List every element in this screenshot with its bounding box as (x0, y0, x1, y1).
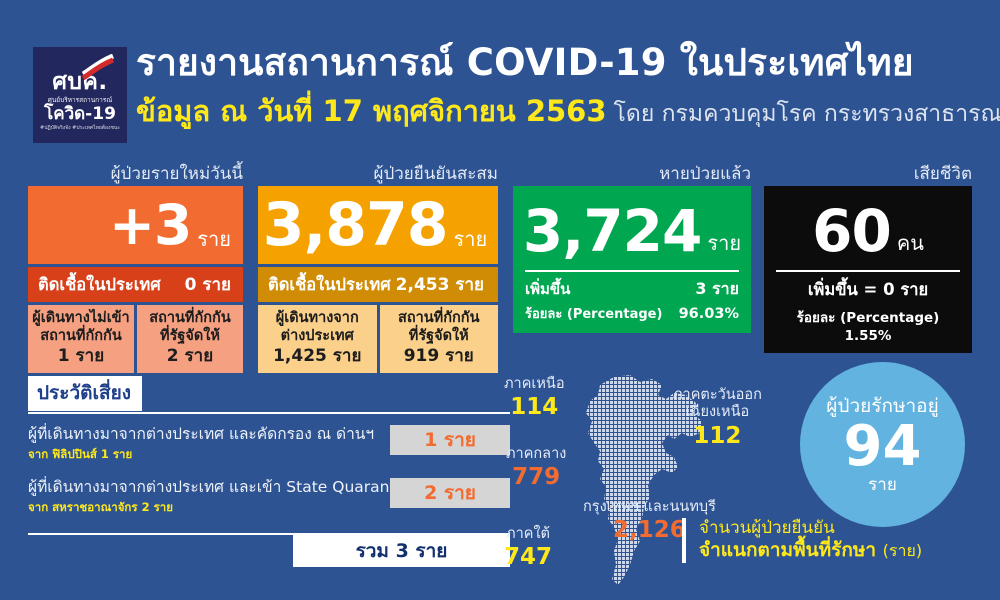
region-north-name: ภาคเหนือ (504, 376, 565, 393)
deaths-value: 60 (812, 204, 891, 259)
region-northeast-name-line2: เฉียงเหนือ (673, 404, 762, 421)
deaths-value-box: 60 คน (776, 196, 960, 268)
region-northeast-value: 112 (673, 423, 762, 449)
label-deaths: เสียชีวิต (764, 160, 972, 187)
recovered-unit: ราย (707, 227, 741, 259)
recovered-value: 3,724 (523, 204, 701, 259)
total-cases-local-band: ติดเชื้อในประเทศ 2,453 ราย (258, 267, 498, 302)
report-date: ข้อมูล ณ วันที่ 17 พฤศจิกายน 2563 (136, 94, 607, 128)
risk-total-row: รวม 3 ราย (28, 535, 510, 569)
label-total-cases: ผู้ป่วยยืนยันสะสม (258, 160, 498, 187)
risk-row-0-value: 1 ราย (390, 425, 510, 455)
recovered-percent-label: ร้อยละ (Percentage) (525, 303, 662, 324)
deaths-unit: คน (897, 227, 924, 259)
total-cases-value-box: 3,878 ราย (258, 186, 498, 264)
total-cases-value: 3,878 (263, 197, 448, 254)
total-cases-local-label: ติดเชื้อในประเทศ (268, 272, 391, 298)
total-cases-unit: ราย (454, 223, 488, 255)
risk-row-1-value: 2 ราย (390, 478, 510, 508)
deaths-inner: 60 คน เพิ่มขึ้น = 0 ราย ร้อยละ (Percenta… (764, 186, 972, 353)
new-cases-breakdown: ผู้เดินทางไม่เข้า สถานที่กักกัน 1 ราย สถ… (28, 305, 243, 373)
total-sub-1-line1: สถานที่กักกัน (382, 310, 497, 328)
sub-1-line2: ที่รัฐจัดให้ (139, 328, 241, 346)
total-sub-1-value: 919 ราย (382, 345, 497, 367)
sub-1-line1: สถานที่กักกัน (139, 310, 241, 328)
active-patients-circle: ผู้ป่วยรักษาอยู่ 94 ราย (800, 362, 965, 527)
card-deaths: 60 คน เพิ่มขึ้น = 0 ราย ร้อยละ (Percenta… (764, 186, 972, 353)
sbc-logo: ศบค. ศูนย์บริหารสถานการณ์ โควิด-19 #ปฏิบ… (33, 47, 127, 143)
total-cases-local-value: 2,453 ราย (396, 271, 484, 298)
risk-history-section: ประวัติเสี่ยง ผู้ที่เดินทางมาจากต่างประเ… (28, 376, 510, 569)
card-total-cases: 3,878 ราย ติดเชื้อในประเทศ 2,453 ราย ผู้… (258, 186, 498, 373)
recovered-inner: 3,724 ราย เพิ่มขึ้น 3 ราย ร้อยละ (Percen… (513, 186, 751, 333)
new-cases-sub-1: สถานที่กักกัน ที่รัฐจัดให้ 2 ราย (137, 305, 243, 373)
header-subtitle: ข้อมูล ณ วันที่ 17 พฤศจิกายน 2563โดย กรม… (136, 96, 1000, 128)
total-cases-sub-1: สถานที่กักกัน ที่รัฐจัดให้ 919 ราย (380, 305, 499, 373)
deaths-increase-line: เพิ่มขึ้น = 0 ราย (776, 277, 960, 303)
risk-top-rule (28, 412, 510, 414)
sub-0-line1: ผู้เดินทางไม่เข้า (30, 310, 132, 328)
recovered-increase-value: 3 ราย (695, 277, 739, 302)
risk-row-0: ผู้ที่เดินทางมาจากต่างประเทศ และคัดกรอง … (28, 425, 510, 467)
recovered-value-box: 3,724 ราย (525, 196, 739, 268)
label-recovered: หายป่วยแล้ว (513, 160, 751, 187)
sub-1-value: 2 ราย (139, 345, 241, 367)
map-caption-line2-text: จำแนกตามพื้นที่รักษา (699, 539, 876, 561)
new-cases-unit: ราย (197, 223, 231, 255)
total-sub-0-line1: ผู้เดินทางจาก (260, 310, 375, 328)
map-caption-line2: จำแนกตามพื้นที่รักษา (ราย) (699, 539, 922, 563)
logo-line3: โควิด-19 (44, 105, 116, 124)
risk-total-value: รวม 3 ราย (293, 535, 510, 567)
region-north: ภาคเหนือ 114 (504, 376, 565, 421)
thai-flag-icon (82, 54, 116, 80)
recovered-divider (525, 270, 739, 272)
sub-0-line2: สถานที่กักกัน (30, 328, 132, 346)
label-new-cases: ผู้ป่วยรายใหม่วันนี้ (28, 160, 243, 187)
recovered-percent-row: ร้อยละ (Percentage) 96.03% (525, 303, 739, 324)
active-patients-unit: ราย (868, 476, 897, 495)
card-new-cases: +3 ราย ติดเชื้อในประเทศ 0 ราย ผู้เดินทาง… (28, 186, 243, 373)
new-cases-local-band: ติดเชื้อในประเทศ 0 ราย (28, 267, 243, 302)
region-central-name: ภาคกลาง (506, 446, 566, 463)
total-sub-1-line2: ที่รัฐจัดให้ (382, 328, 497, 346)
region-northeast-name-line1: ภาคตะวันออก (673, 387, 762, 404)
recovered-increase-label: เพิ่มขึ้น (525, 277, 570, 301)
new-cases-value: +3 (109, 199, 191, 251)
recovered-increase-row: เพิ่มขึ้น 3 ราย (525, 277, 739, 302)
deaths-divider (776, 270, 960, 272)
header: ศบค. ศูนย์บริหารสถานการณ์ โควิด-19 #ปฏิบ… (0, 0, 1000, 150)
total-cases-breakdown: ผู้เดินทางจาก ต่างประเทศ 1,425 ราย สถานท… (258, 305, 498, 373)
total-sub-0-value: 1,425 ราย (260, 345, 375, 367)
total-cases-sub-0: ผู้เดินทางจาก ต่างประเทศ 1,425 ราย (258, 305, 377, 373)
active-patients-value: 94 (844, 419, 922, 475)
region-bangkok-name: กรุงเทพฯ และนนทบุรี (583, 499, 716, 516)
logo-line2: ศูนย์บริหารสถานการณ์ (48, 96, 113, 104)
new-cases-value-box: +3 ราย (28, 186, 243, 264)
new-cases-sub-0: ผู้เดินทางไม่เข้า สถานที่กักกัน 1 ราย (28, 305, 134, 373)
logo-line4: #ปฏิบัติจริงจัง #ประเทศไทยต้องชนะ (40, 125, 120, 131)
report-source: โดย กรมควบคุมโรค กระทรวงสาธารณสุข (614, 101, 1000, 127)
region-south: ภาคใต้ 747 (504, 526, 552, 571)
sub-0-value: 1 ราย (30, 345, 132, 367)
new-cases-local-value: 0 ราย (185, 271, 231, 298)
region-central: ภาคกลาง 779 (506, 446, 566, 491)
new-cases-local-label: ติดเชื้อในประเทศ (38, 272, 161, 298)
risk-history-title: ประวัติเสี่ยง (28, 376, 142, 411)
region-northeast: ภาคตะวันออก เฉียงเหนือ 112 (673, 387, 762, 449)
deaths-percent-line: ร้อยละ (Percentage) 1.55% (776, 306, 960, 344)
risk-row-1: ผู้ที่เดินทางมาจากต่างประเทศ และเข้า Sta… (28, 478, 510, 520)
region-central-value: 779 (506, 464, 566, 490)
page-title: รายงานสถานการณ์ COVID-19 ในประเทศไทย (136, 44, 914, 83)
card-recovered: 3,724 ราย เพิ่มขึ้น 3 ราย ร้อยละ (Percen… (513, 186, 751, 333)
map-caption-unit: (ราย) (883, 541, 922, 560)
region-south-value: 747 (504, 544, 552, 570)
recovered-percent-value: 96.03% (679, 306, 739, 322)
total-sub-0-line2: ต่างประเทศ (260, 328, 375, 346)
infographic-page: ศบค. ศูนย์บริหารสถานการณ์ โควิด-19 #ปฏิบ… (0, 0, 1000, 600)
region-south-name: ภาคใต้ (504, 526, 552, 543)
region-north-value: 114 (504, 394, 565, 420)
